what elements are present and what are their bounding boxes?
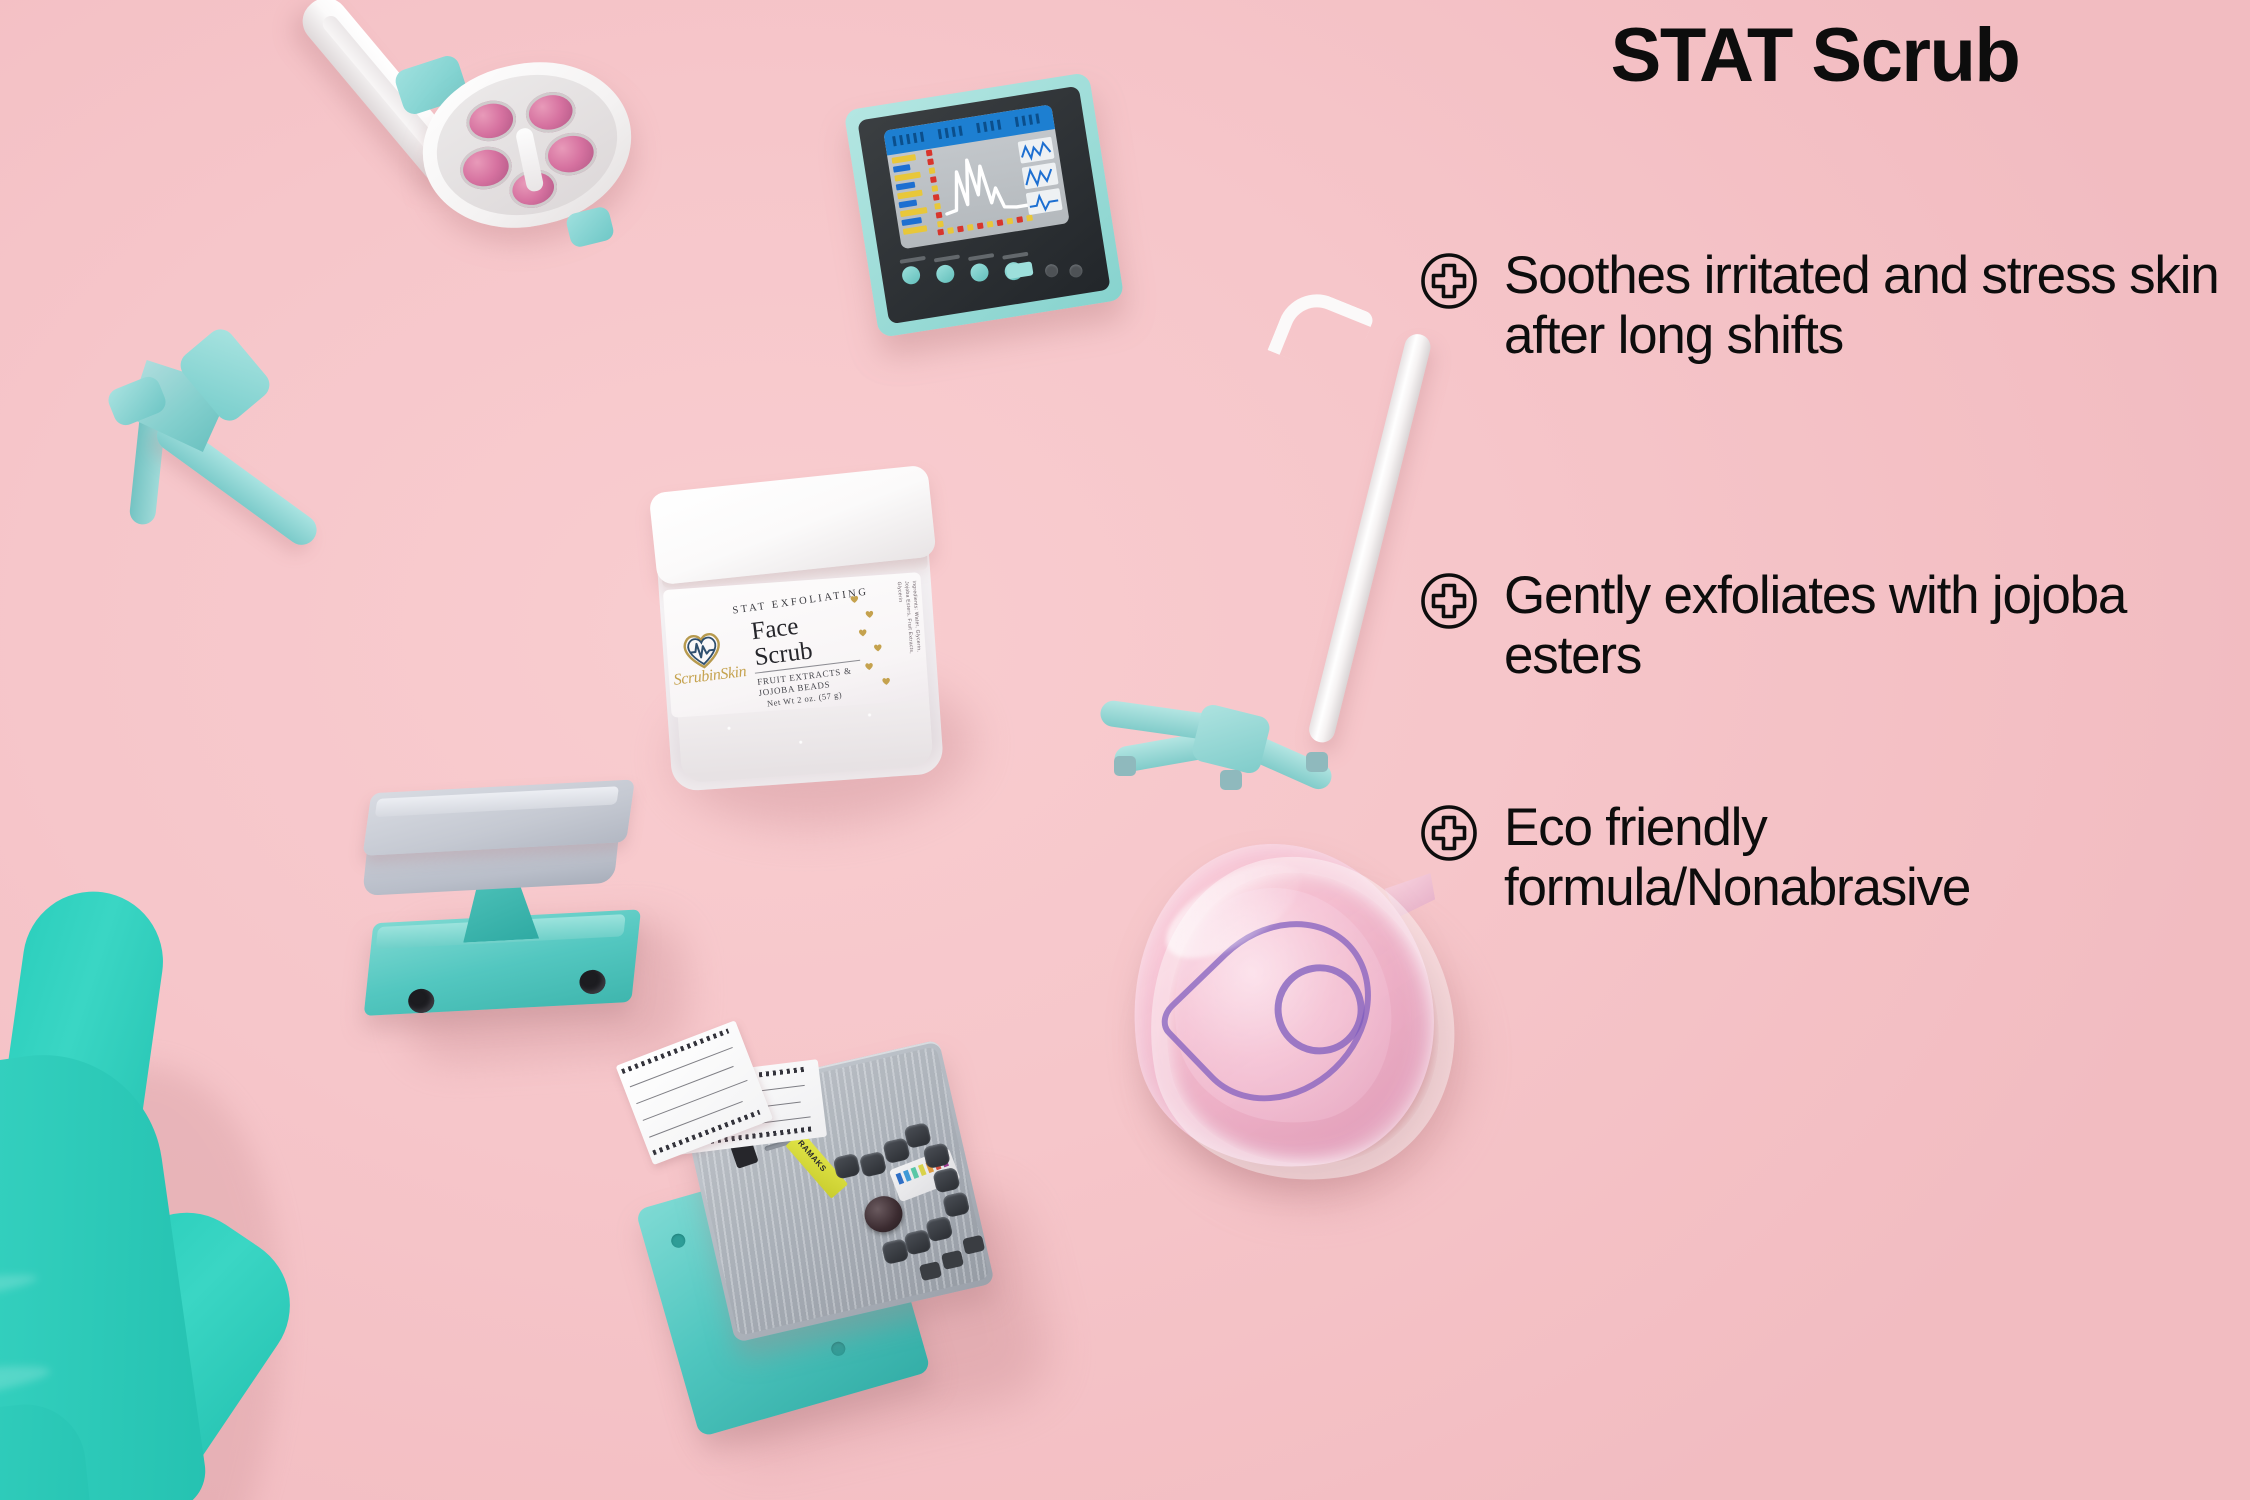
benefit-bullet: Gently exfoliates with jojoba esters <box>1420 566 2220 686</box>
monitor-button[interactable] <box>969 262 990 283</box>
brand-lockup: ScrubinSkin <box>670 624 762 706</box>
iv-pole <box>1110 270 1420 790</box>
exam-cart <box>351 770 675 1066</box>
iv-pole-caster <box>1114 756 1136 776</box>
monitor-button[interactable] <box>935 264 956 285</box>
gold-heart-icon <box>873 639 883 649</box>
lamp-pod <box>541 128 601 180</box>
gold-heart-icon <box>864 658 874 668</box>
label-ingredients-text: Ingredients: Water, Glycerin, Jojoba Est… <box>891 580 922 660</box>
lamp-pod <box>456 142 516 194</box>
benefit-bullet-text: Gently exfoliates with jojoba esters <box>1504 566 2220 686</box>
gold-heart-icon <box>881 672 891 682</box>
vitals-monitor <box>844 72 1125 338</box>
gold-heart-icon <box>849 590 859 600</box>
iv-pole-caster <box>1220 770 1242 790</box>
nitrile-glove <box>0 640 450 1500</box>
monitor-button[interactable] <box>901 265 922 286</box>
medical-cross-circle-icon <box>1420 572 1478 630</box>
surgical-light <box>120 60 640 640</box>
benefit-bullet: Soothes irritated and stress skin after … <box>1420 246 2220 366</box>
benefit-bullet-text: Soothes irritated and stress skin after … <box>1504 246 2220 366</box>
monitor-mini-trace <box>1018 137 1055 164</box>
medical-cross-circle-icon <box>1420 252 1478 310</box>
iv-pole-caster <box>1306 752 1328 772</box>
gold-heart-icon <box>858 624 868 634</box>
ekg-machine: RAMAKS <box>608 997 1068 1472</box>
monitor-screen <box>883 104 1070 249</box>
benefit-bullet-text: Eco friendly formula/Nonabrasive <box>1504 798 2220 918</box>
gold-heart-icon <box>864 605 874 615</box>
benefit-bullet: Eco friendly formula/Nonabrasive <box>1420 798 2220 918</box>
monitor-body <box>857 86 1110 325</box>
iv-pole-hook <box>1267 282 1375 382</box>
iv-pole-rod <box>1306 331 1433 745</box>
monitor-mini-trace <box>1022 162 1059 189</box>
lamp-pod <box>463 96 520 146</box>
iv-pole-hub <box>1190 702 1272 775</box>
medical-cross-circle-icon <box>1420 804 1478 862</box>
monitor-slider[interactable] <box>1006 261 1034 279</box>
monitor-knob[interactable] <box>1069 263 1084 278</box>
page-title: STAT Scrub <box>1420 18 2210 94</box>
product-label: STAT EXFOLIATING Face Scrub FRUIT EXTRAC… <box>663 572 929 718</box>
product-jar: STAT EXFOLIATING Face Scrub FRUIT EXTRAC… <box>644 470 976 821</box>
monitor-knob[interactable] <box>1044 263 1059 278</box>
poster-canvas: RAMAKS <box>0 0 2250 1500</box>
monitor-mini-trace <box>1026 188 1063 215</box>
copy-panel: STAT Scrub Soothes irritated and stress … <box>1420 8 2210 928</box>
